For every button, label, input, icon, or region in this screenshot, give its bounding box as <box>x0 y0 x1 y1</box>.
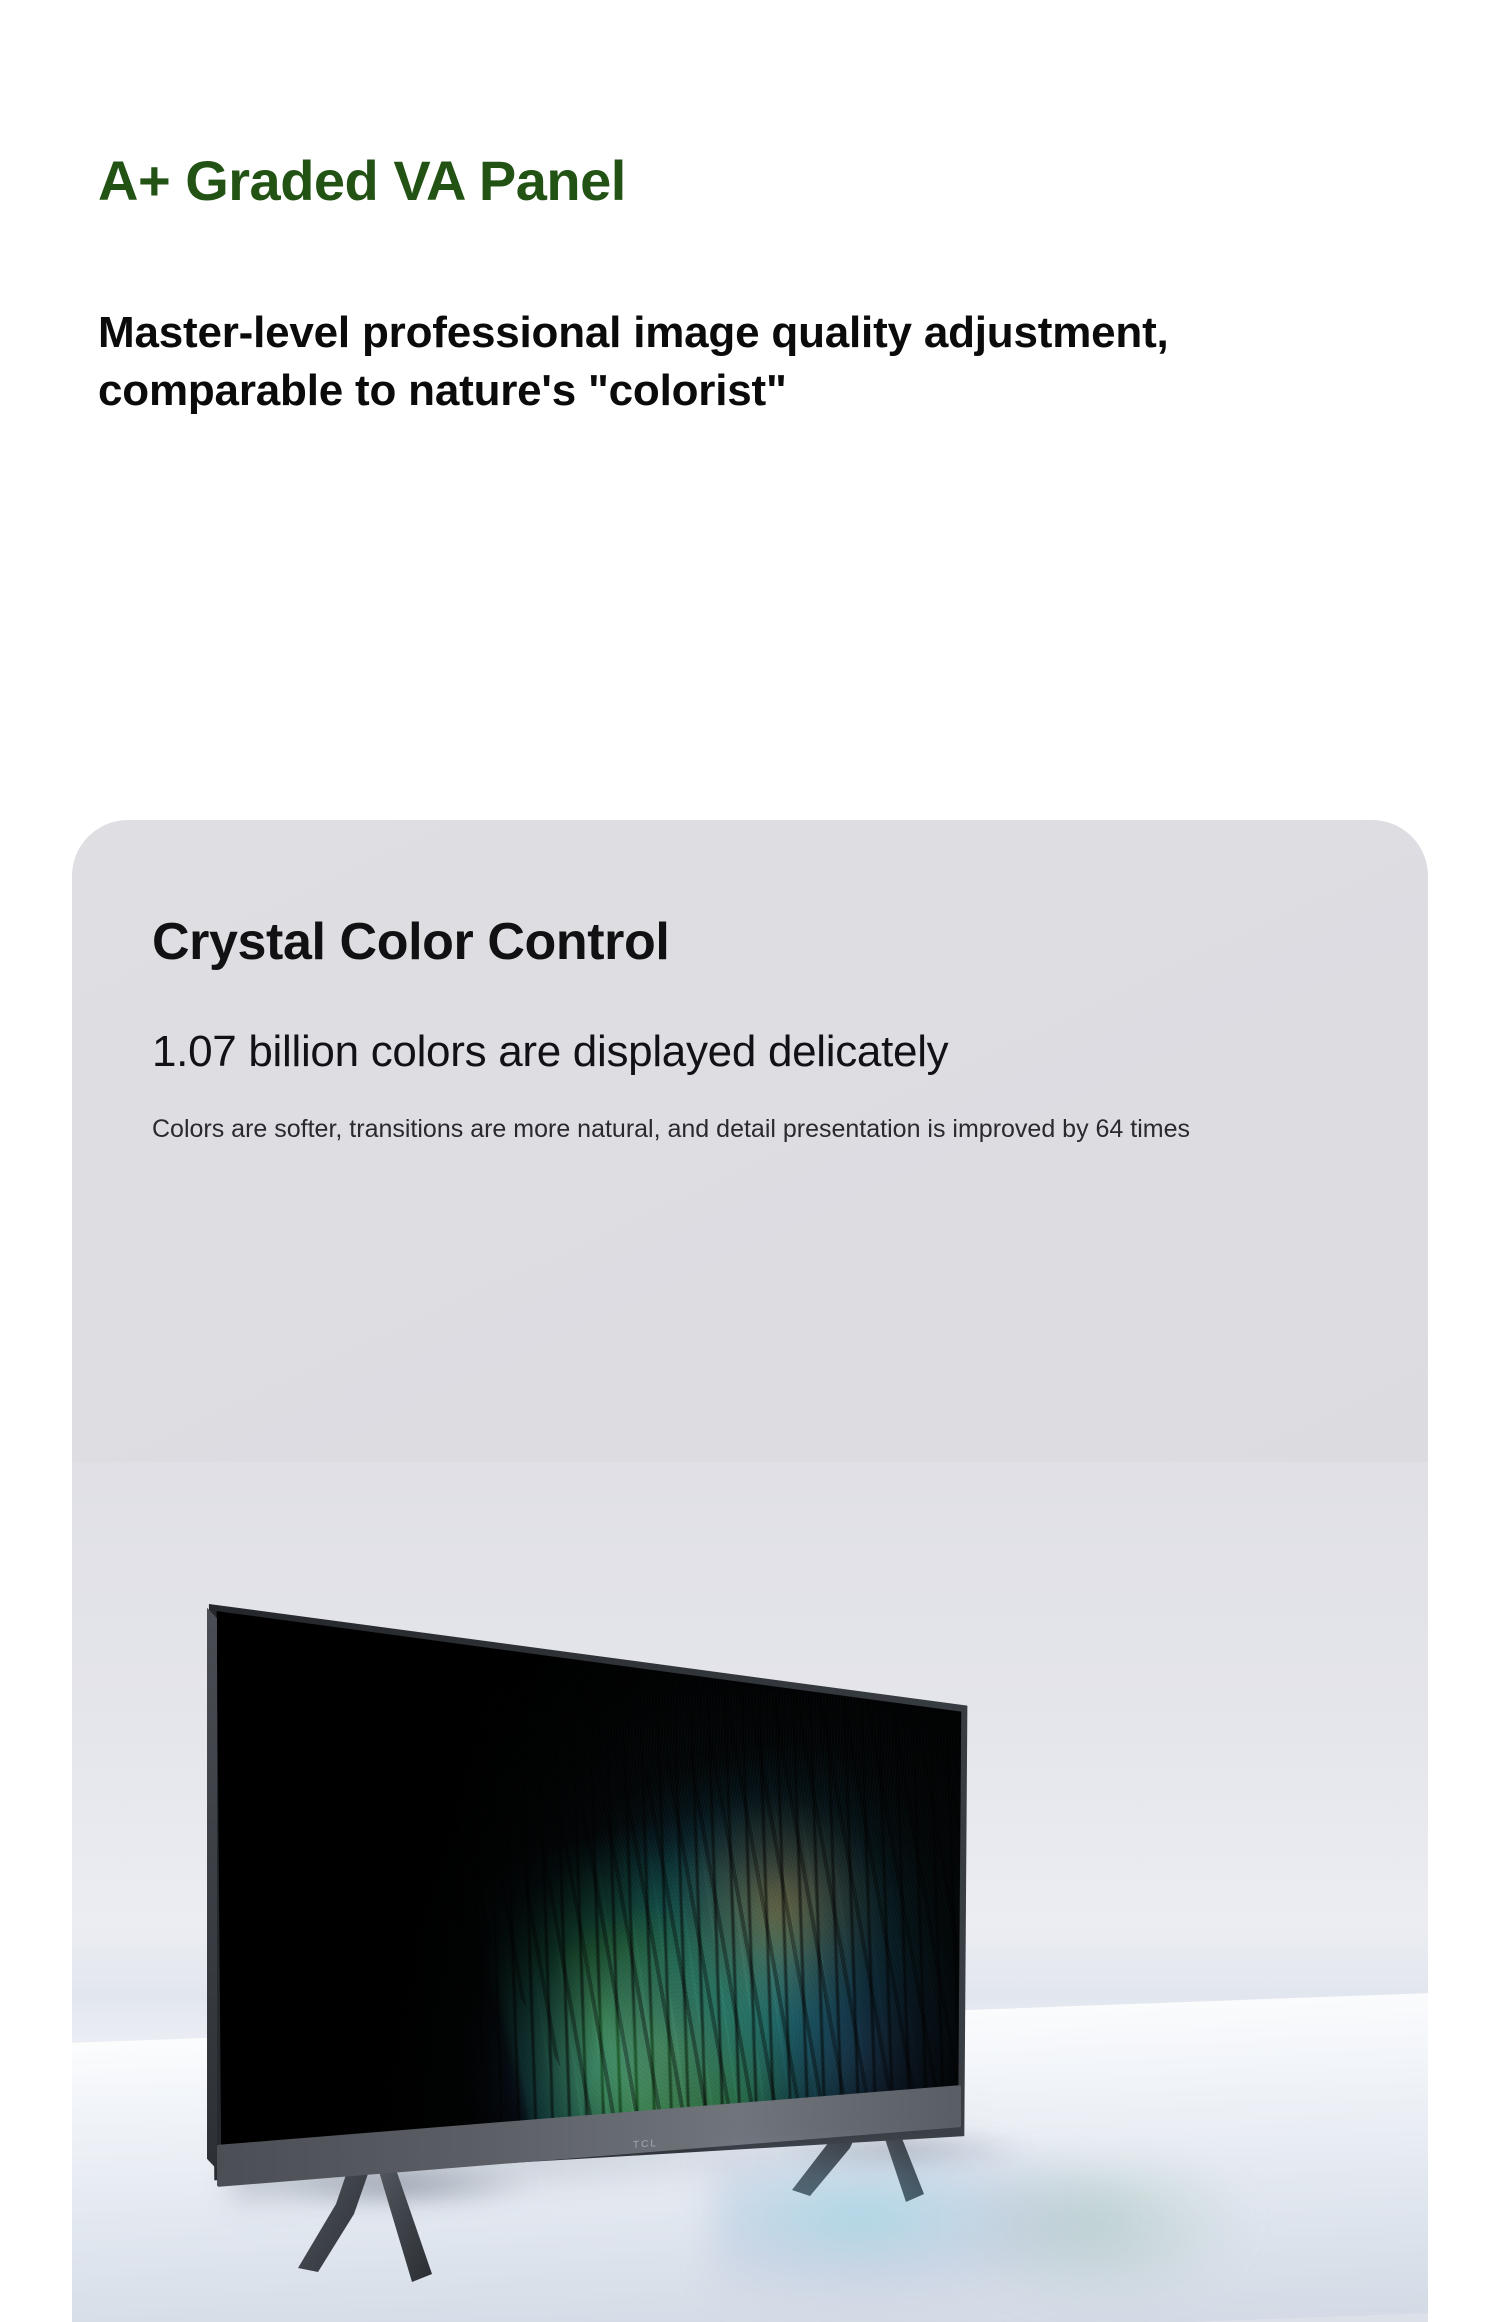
tv-screen <box>202 1586 972 2184</box>
section-subheading: Master-level professional image quality … <box>98 304 1278 420</box>
feature-card-lead: 1.07 billion colors are displayed delica… <box>152 1027 1368 1078</box>
screen-top-shade <box>202 1586 972 2184</box>
table-color-reflection-secondary <box>952 2162 1252 2312</box>
section-eyebrow: A+ Graded VA Panel <box>98 150 1398 212</box>
feature-card-title: Crystal Color Control <box>152 914 1368 971</box>
feature-card-body: Colors are softer, transitions are more … <box>152 1112 1272 1148</box>
intro-section: A+ Graded VA Panel Master-level professi… <box>98 150 1398 420</box>
tv-unit: TCL <box>202 1586 972 2184</box>
product-photo: TCL <box>72 1462 1428 2322</box>
feature-card-text: Crystal Color Control 1.07 billion color… <box>152 914 1368 1147</box>
feature-card: Crystal Color Control 1.07 billion color… <box>72 820 1428 2322</box>
